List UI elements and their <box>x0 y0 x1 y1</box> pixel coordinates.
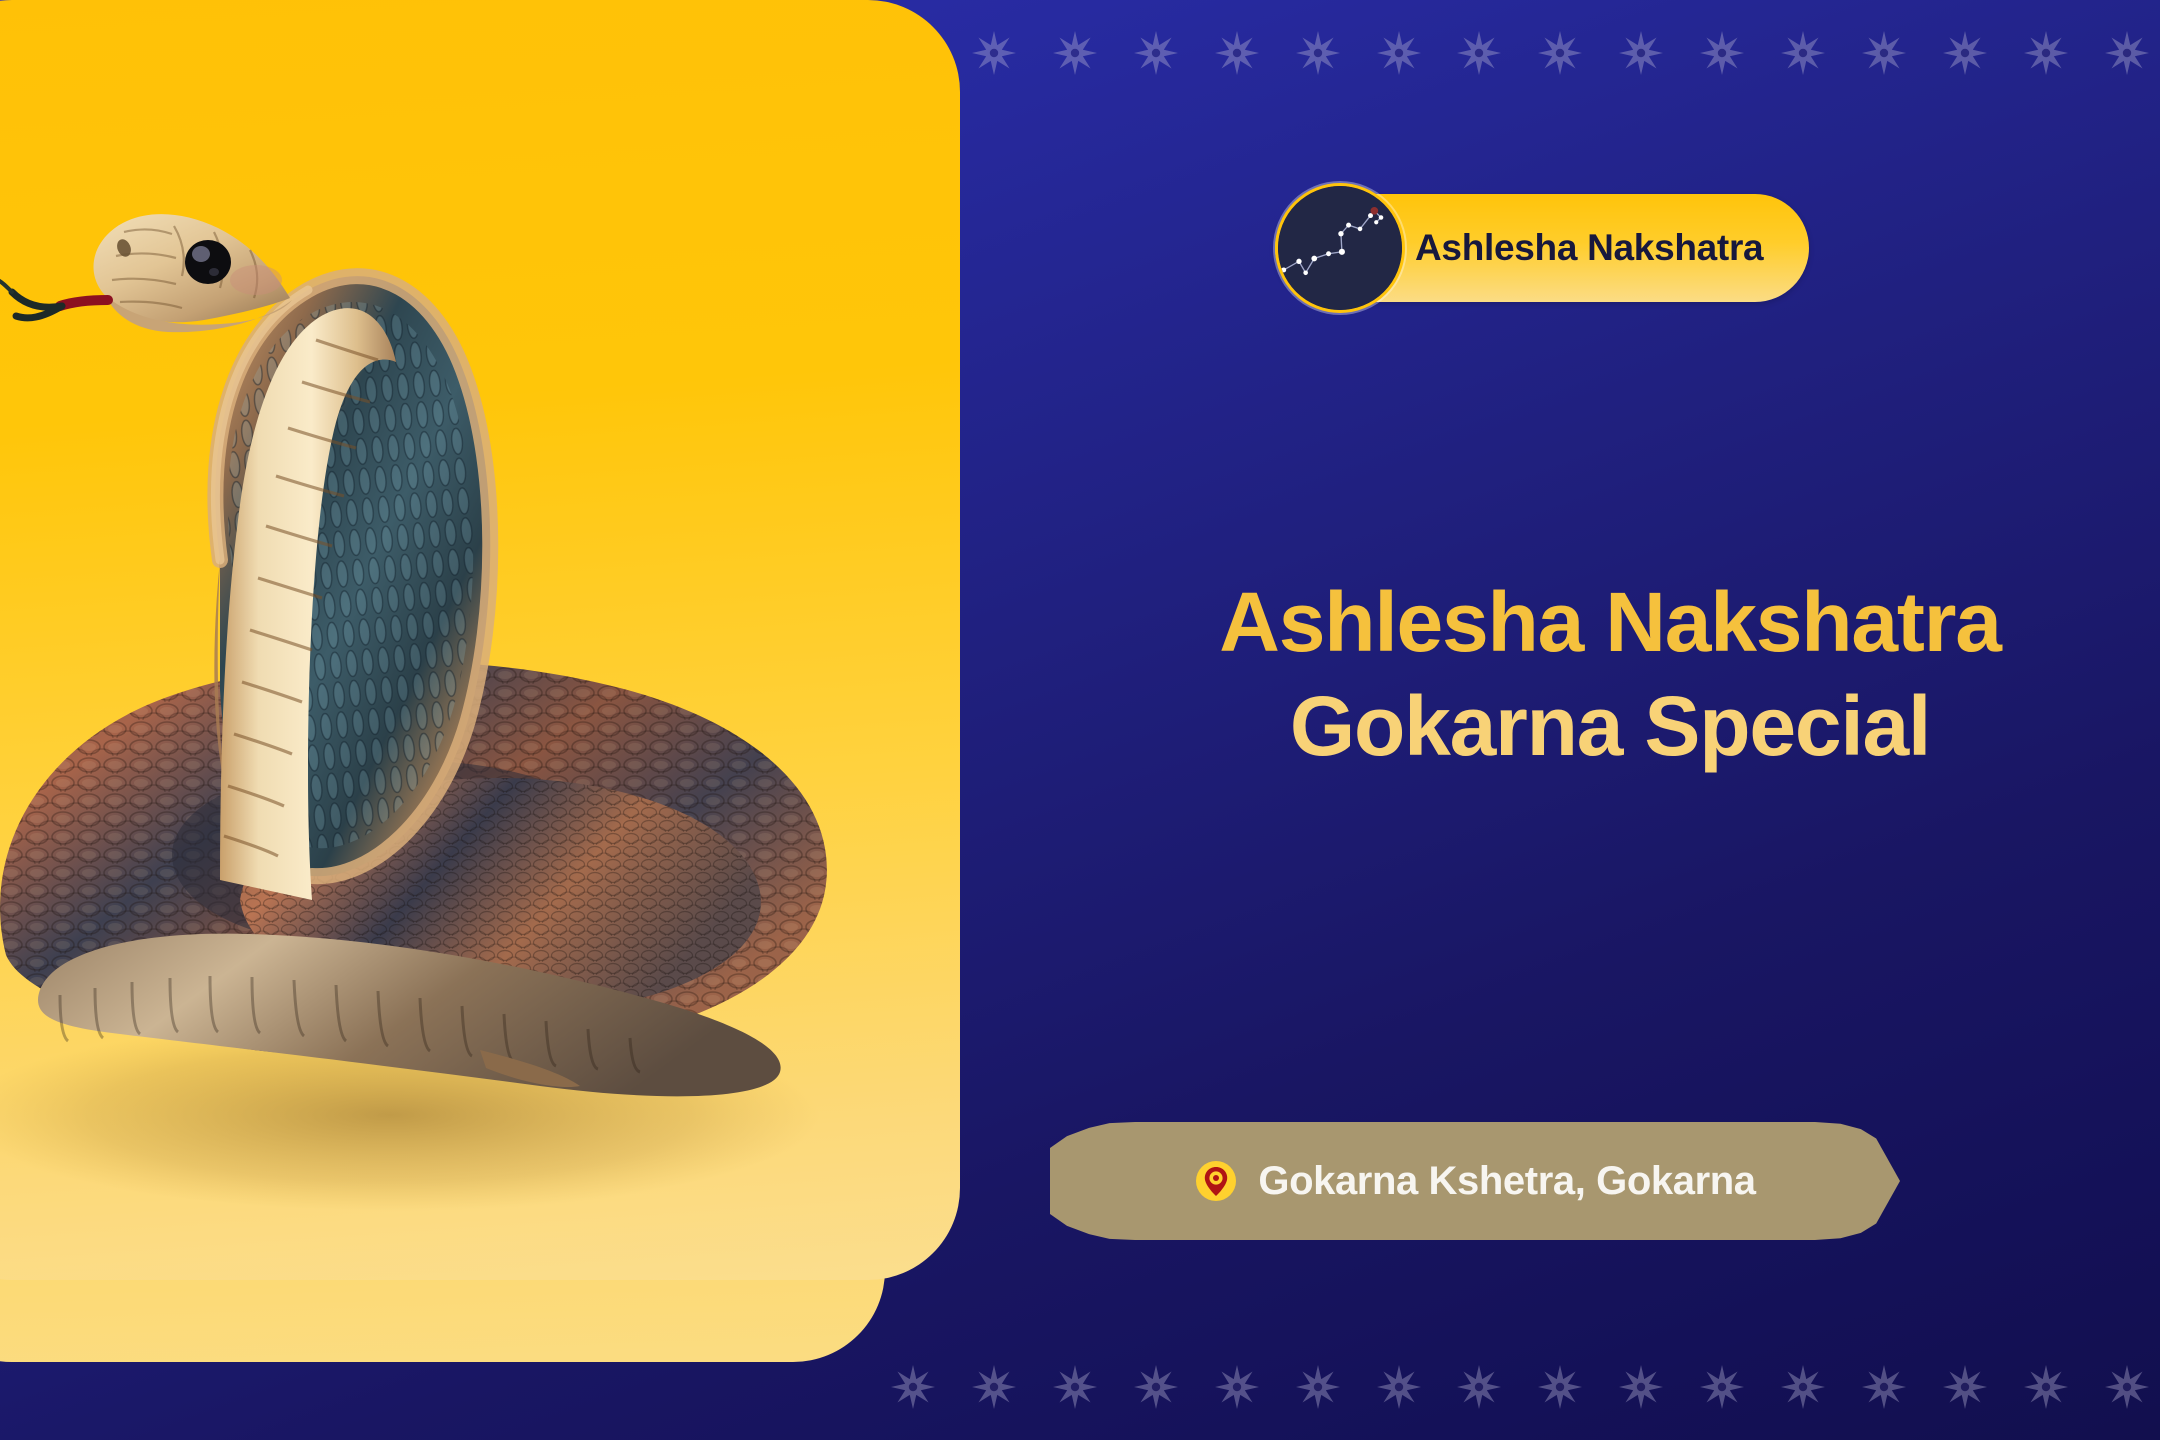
title-line-2: Gokarna Special <box>1060 674 2160 778</box>
poster-canvas: Ashlesha Nakshatra <box>0 0 2160 1440</box>
title-line-1: Ashlesha Nakshatra <box>1060 570 2160 674</box>
nakshatra-badge-label: Ashlesha Nakshatra <box>1415 227 1763 269</box>
eight-point-star-icon <box>971 30 1017 76</box>
location-text: Gokarna Kshetra, Gokarna <box>1258 1159 1755 1204</box>
cobra-illustration <box>0 0 960 1280</box>
nakshatra-badge[interactable]: Ashlesha Nakshatra <box>1275 183 1809 313</box>
yellow-panel-front <box>0 0 960 1280</box>
map-pin-icon <box>1194 1159 1238 1203</box>
page-title: Ashlesha Nakshatra Gokarna Special <box>1060 570 2160 778</box>
eight-point-star-icon <box>971 1364 1017 1410</box>
constellation-icon <box>1275 183 1405 313</box>
eight-point-star-icon <box>890 1364 936 1410</box>
location-banner[interactable]: Gokarna Kshetra, Gokarna <box>1050 1122 1900 1240</box>
content-column: Ashlesha Nakshatra <box>1060 0 2160 1440</box>
location-banner-inner: Gokarna Kshetra, Gokarna <box>1194 1159 1755 1204</box>
